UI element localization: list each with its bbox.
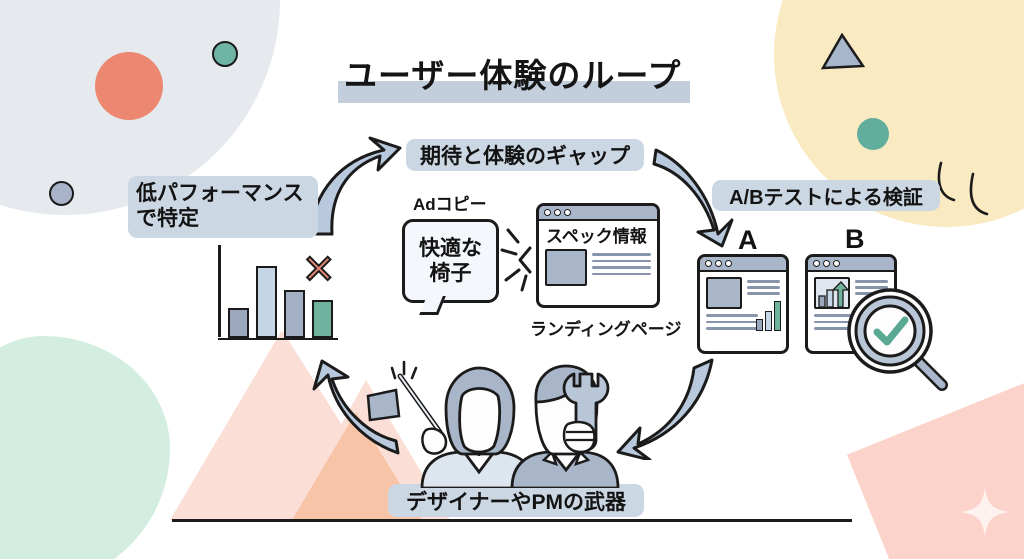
expectation-gap-text: 期待と体験のギャップ	[420, 140, 630, 170]
variant-b-label: B	[845, 224, 865, 255]
low-performance-line2: で特定	[136, 207, 199, 232]
text-line	[706, 327, 758, 330]
variant-b-window[interactable]	[805, 254, 897, 354]
spec-info-content	[545, 249, 651, 286]
low-performance-line1: 低パフォーマンス	[136, 182, 304, 207]
spec-info-heading: スペック情報	[546, 228, 651, 245]
image-placeholder	[706, 277, 742, 309]
chart-x-axis	[218, 338, 338, 341]
stage-label-ab-test[interactable]: A/Bテストによる検証	[712, 180, 940, 211]
text-line	[814, 321, 866, 324]
text-line	[592, 273, 651, 276]
mini-bar	[765, 311, 772, 331]
decor-mint-blob	[0, 336, 170, 559]
decor-star-icon	[957, 484, 1013, 545]
text-line	[592, 266, 651, 269]
window-dot-icon	[544, 209, 551, 216]
text-line	[747, 280, 780, 283]
mini-bar	[756, 319, 763, 331]
text-line	[814, 314, 866, 317]
title-text: ユーザー体験のループ	[338, 55, 687, 92]
text-lines	[592, 249, 651, 286]
variant-a-mini-chart	[756, 301, 781, 331]
window-titlebar	[539, 206, 657, 221]
window-body	[700, 272, 786, 335]
table-row	[228, 308, 249, 338]
table-row	[312, 300, 333, 338]
window-body: スペック情報	[539, 221, 657, 291]
stage-label-designer-pm-tools[interactable]: デザイナーやPMの武器	[388, 484, 644, 517]
decor-triangle-icon	[820, 33, 865, 76]
cross-mark-icon: ✕	[302, 250, 336, 290]
window-body	[808, 272, 894, 335]
text-line	[814, 327, 866, 330]
decor-arc-strokes	[935, 160, 1015, 227]
ad-copy-bubble: 快適な 椅子	[402, 219, 499, 303]
window-titlebar	[700, 257, 786, 272]
window-dot-icon	[823, 260, 830, 267]
window-dot-icon	[705, 260, 712, 267]
table-row	[284, 290, 305, 338]
variant-a-label: A	[738, 225, 758, 256]
text-line	[706, 321, 758, 324]
page-title: ユーザー体験のループ	[338, 55, 687, 92]
infographic-canvas: ユーザー体験のループ 期待と体験のギャップ A/Bテストによる検証 低パフォーマ…	[0, 0, 1024, 559]
text-line	[592, 253, 651, 256]
text-line	[855, 280, 888, 283]
ab-test-text: A/Bテストによる検証	[729, 181, 923, 210]
text-line	[855, 292, 888, 295]
landing-page-window[interactable]: スペック情報	[536, 203, 660, 308]
decor-teal-small-circle	[212, 41, 238, 67]
chart-y-axis	[218, 245, 221, 337]
collision-spark-icon	[500, 228, 540, 301]
window-dot-icon	[715, 260, 722, 267]
variant-b-bottom-lines	[814, 314, 866, 330]
variant-a-window[interactable]	[697, 254, 789, 354]
mini-bar	[774, 301, 781, 331]
text-line	[706, 314, 758, 317]
window-titlebar	[808, 257, 894, 272]
variant-b-top	[814, 277, 888, 309]
image-placeholder	[545, 249, 587, 286]
stage-label-low-performance[interactable]: 低パフォーマンス で特定	[128, 176, 318, 238]
arrow-up-left-icon	[298, 357, 404, 468]
people-illustration	[366, 360, 636, 493]
landing-page-caption: ランディングページ	[530, 315, 681, 340]
text-line	[747, 286, 780, 289]
designer-pm-tools-text: デザイナーやPMの武器	[406, 486, 626, 516]
arrow-down-left-icon	[604, 356, 716, 465]
decor-coral-circle	[95, 52, 163, 120]
window-dot-icon	[725, 260, 732, 267]
text-line	[855, 286, 888, 289]
window-dot-icon	[813, 260, 820, 267]
decor-baseline	[172, 519, 852, 522]
ad-copy-line1: 快適な	[419, 236, 482, 261]
decor-pink-rect	[847, 369, 1024, 559]
ad-copy-label: Adコピー	[413, 190, 487, 215]
window-dot-icon	[554, 209, 561, 216]
decor-teal-medium-circle	[857, 118, 889, 150]
text-line	[747, 292, 780, 295]
window-dot-icon	[833, 260, 840, 267]
window-dot-icon	[564, 209, 571, 216]
growth-chart-box	[814, 277, 850, 309]
variant-a-bottom-lines	[706, 314, 758, 330]
text-line	[592, 260, 651, 263]
stage-label-expectation-gap[interactable]: 期待と体験のギャップ	[406, 139, 644, 171]
ad-copy-line2: 椅子	[430, 261, 472, 286]
decor-blue-small-circle	[49, 181, 74, 206]
text-lines	[855, 277, 888, 309]
table-row	[256, 266, 277, 338]
